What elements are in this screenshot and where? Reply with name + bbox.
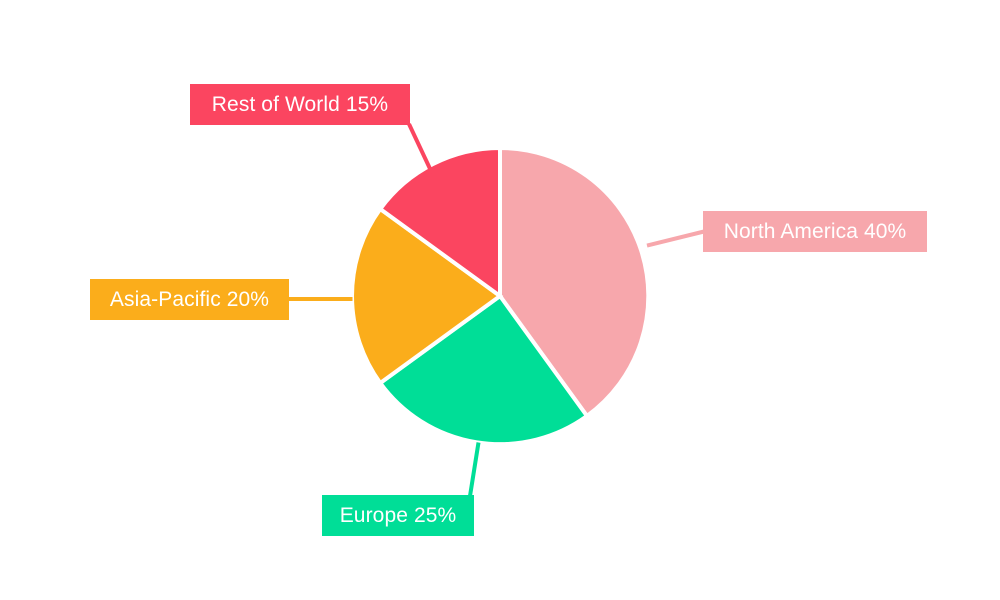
pie-label-rest-of-world[interactable]: Rest of World 15%: [190, 84, 410, 125]
pie-label-north-america[interactable]: North America 40%: [703, 211, 927, 252]
pie-label-rest-of-world-text: Rest of World 15%: [212, 94, 388, 115]
leader-line-rest-of-world: [409, 124, 432, 173]
pie-slices: [352, 148, 648, 444]
pie-label-asia-pacific[interactable]: Asia-Pacific 20%: [90, 279, 289, 320]
pie-label-asia-pacific-text: Asia-Pacific 20%: [110, 289, 269, 310]
pie-label-north-america-text: North America 40%: [724, 221, 907, 242]
pie-label-europe[interactable]: Europe 25%: [322, 495, 474, 536]
pie-label-europe-text: Europe 25%: [340, 505, 457, 526]
pie-chart-figure: Rest of World 15% North America 40% Asia…: [0, 0, 1000, 600]
leader-line-europe: [470, 443, 479, 497]
leader-line-north-america: [647, 232, 704, 246]
